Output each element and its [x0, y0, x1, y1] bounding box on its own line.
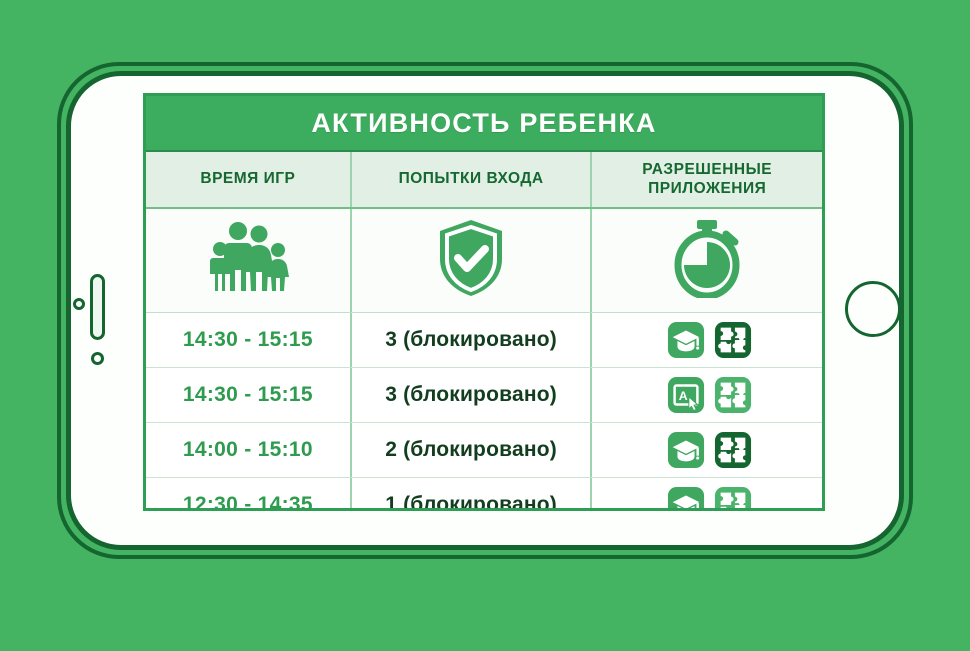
graduation-cap-icon[interactable]: [667, 431, 705, 469]
letter-a-pointer-icon[interactable]: A: [667, 376, 705, 414]
login-attempts-value: 2 (блокировано): [385, 438, 557, 462]
play-time-value: 12:30 - 14:35: [183, 493, 313, 511]
puzzle-icon[interactable]: [714, 431, 752, 469]
column-header-play-time: ВРЕМЯ ИГР: [146, 152, 352, 207]
graduation-cap-icon: [667, 321, 705, 359]
cell-play-time: 12:30 - 14:35: [146, 478, 352, 511]
volume-button[interactable]: [90, 274, 105, 340]
table-body: 14:30 - 15:153 (блокировано)14:30 - 15:1…: [146, 313, 822, 511]
puzzle-icon: [714, 321, 752, 359]
table-column-headers: ВРЕМЯ ИГР ПОПЫТКИ ВХОДА РАЗРЕШЕННЫЕ ПРИЛ…: [146, 152, 822, 209]
sensor-dot-lower-icon: [91, 352, 104, 365]
icon-cell-play-time: [146, 209, 352, 312]
column-header-allowed-apps: РАЗРЕШЕННЫЕ ПРИЛОЖЕНИЯ: [592, 152, 822, 207]
play-time-value: 14:30 - 15:15: [183, 383, 313, 407]
table-row[interactable]: 14:30 - 15:153 (блокировано)A: [146, 368, 822, 423]
column-header-allowed-apps-line2: ПРИЛОЖЕНИЯ: [648, 180, 766, 197]
table-row[interactable]: 14:00 - 15:102 (блокировано): [146, 423, 822, 478]
puzzle-icon: [714, 376, 752, 414]
page-title: АКТИВНОСТЬ РЕБЕНКА: [311, 108, 656, 139]
graduation-cap-icon: [667, 486, 705, 511]
table-row[interactable]: 12:30 - 14:351 (блокировано): [146, 478, 822, 511]
play-time-value: 14:00 - 15:10: [183, 438, 313, 462]
column-header-login-attempts: ПОПЫТКИ ВХОДА: [352, 152, 593, 207]
table-row[interactable]: 14:30 - 15:153 (блокировано): [146, 313, 822, 368]
icon-cell-allowed-apps: [592, 209, 822, 312]
graduation-cap-icon[interactable]: [667, 321, 705, 359]
puzzle-icon: [714, 431, 752, 469]
play-time-value: 14:30 - 15:15: [183, 328, 313, 352]
puzzle-icon[interactable]: [714, 321, 752, 359]
cell-play-time: 14:30 - 15:15: [146, 313, 352, 367]
stopwatch-icon: [669, 218, 745, 303]
home-button[interactable]: [845, 281, 901, 337]
column-header-allowed-apps-line1: РАЗРЕШЕННЫЕ: [642, 161, 772, 178]
cell-login-attempts: 1 (блокировано): [352, 478, 593, 511]
login-attempts-value: 3 (блокировано): [385, 328, 557, 352]
login-attempts-value: 3 (блокировано): [385, 383, 557, 407]
sensor-dot-upper-icon: [73, 298, 85, 310]
puzzle-icon: [714, 486, 752, 511]
login-attempts-value: 1 (блокировано): [385, 493, 557, 511]
shield-check-icon: [436, 218, 506, 303]
app-title-bar: АКТИВНОСТЬ РЕБЕНКА: [146, 96, 822, 152]
graduation-cap-icon[interactable]: [667, 486, 705, 511]
graduation-cap-icon: [667, 431, 705, 469]
cell-login-attempts: 3 (блокировано): [352, 313, 593, 367]
puzzle-icon[interactable]: [714, 486, 752, 511]
cell-play-time: 14:30 - 15:15: [146, 368, 352, 422]
cell-login-attempts: 2 (блокировано): [352, 423, 593, 477]
svg-text:A: A: [678, 389, 687, 403]
cell-allowed-apps: [592, 423, 822, 477]
table-icon-row: [146, 209, 822, 313]
cell-allowed-apps: [592, 478, 822, 511]
family-group-icon: [202, 222, 294, 299]
cell-allowed-apps: A: [592, 368, 822, 422]
cell-login-attempts: 3 (блокировано): [352, 368, 593, 422]
cell-allowed-apps: [592, 313, 822, 367]
letter-a-pointer-icon: A: [667, 376, 705, 414]
cell-play-time: 14:00 - 15:10: [146, 423, 352, 477]
puzzle-icon[interactable]: [714, 376, 752, 414]
phone-screen: АКТИВНОСТЬ РЕБЕНКА ВРЕМЯ ИГР ПОПЫТКИ ВХО…: [143, 93, 825, 511]
icon-cell-login-attempts: [352, 209, 593, 312]
